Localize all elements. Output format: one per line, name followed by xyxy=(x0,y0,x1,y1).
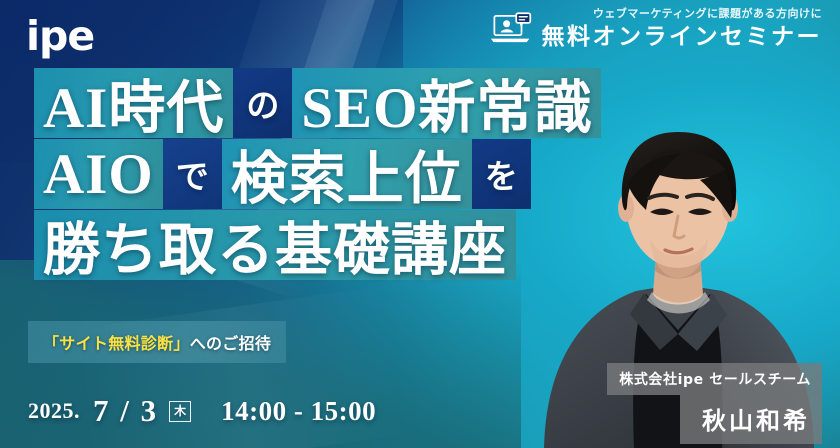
headline-line-1: AI時代 の SEO新常識 xyxy=(34,68,594,138)
headline-segment: で xyxy=(163,139,222,209)
schedule-time: 14:00 - 15:00 xyxy=(221,396,376,427)
headline-line-3: 勝ち取る基礎講座 xyxy=(34,210,594,280)
schedule-day-of-week: 木 xyxy=(169,401,191,422)
headline-segment: AIO xyxy=(34,139,163,209)
schedule-month-day: 7 / 3 xyxy=(93,393,158,429)
free-diagnosis-badge: 「サイト無料診断」へのご招待 xyxy=(28,321,286,363)
headline-segment: AI時代 xyxy=(34,68,233,138)
headline-segment: 勝ち取る基礎講座 xyxy=(34,210,516,280)
badge-text: 「サイト無料診断」へのご招待 xyxy=(43,330,271,354)
seminar-title: 無料オンラインセミナー xyxy=(542,24,823,50)
badge-highlight-text: 「サイト無料診断」 xyxy=(43,334,190,353)
speaker-name: 秋山和希 xyxy=(680,395,822,444)
laptop-webinar-icon xyxy=(490,12,532,46)
headline-segment: SEO新常識 xyxy=(292,68,601,138)
ipe-logo: ipe xyxy=(26,16,94,57)
schedule: 2025. 7 / 3 木 14:00 - 15:00 xyxy=(28,393,376,429)
seminar-kicker: ウェブマーケティングに課題がある方向けに xyxy=(542,8,823,21)
seminar-mark: ウェブマーケティングに課題がある方向けに 無料オンラインセミナー xyxy=(490,8,823,50)
headline: AI時代 の SEO新常識 AIO で 検索上位 を 勝ち取る基礎講座 xyxy=(34,68,594,281)
webinar-banner: ipe ウェブマーケティングに課題がある方向けに 無料オンラインセミナー AI時… xyxy=(0,0,840,448)
headline-line-2: AIO で 検索上位 を xyxy=(34,139,594,209)
headline-segment: 検索上位 xyxy=(222,139,472,209)
headline-segment: の xyxy=(233,68,292,138)
badge-rest-text: へのご招待 xyxy=(190,334,272,353)
headline-segment: を xyxy=(472,139,531,209)
schedule-year: 2025. xyxy=(28,398,80,424)
speaker-company-team: 株式会社ipe セールスチーム xyxy=(607,363,822,395)
